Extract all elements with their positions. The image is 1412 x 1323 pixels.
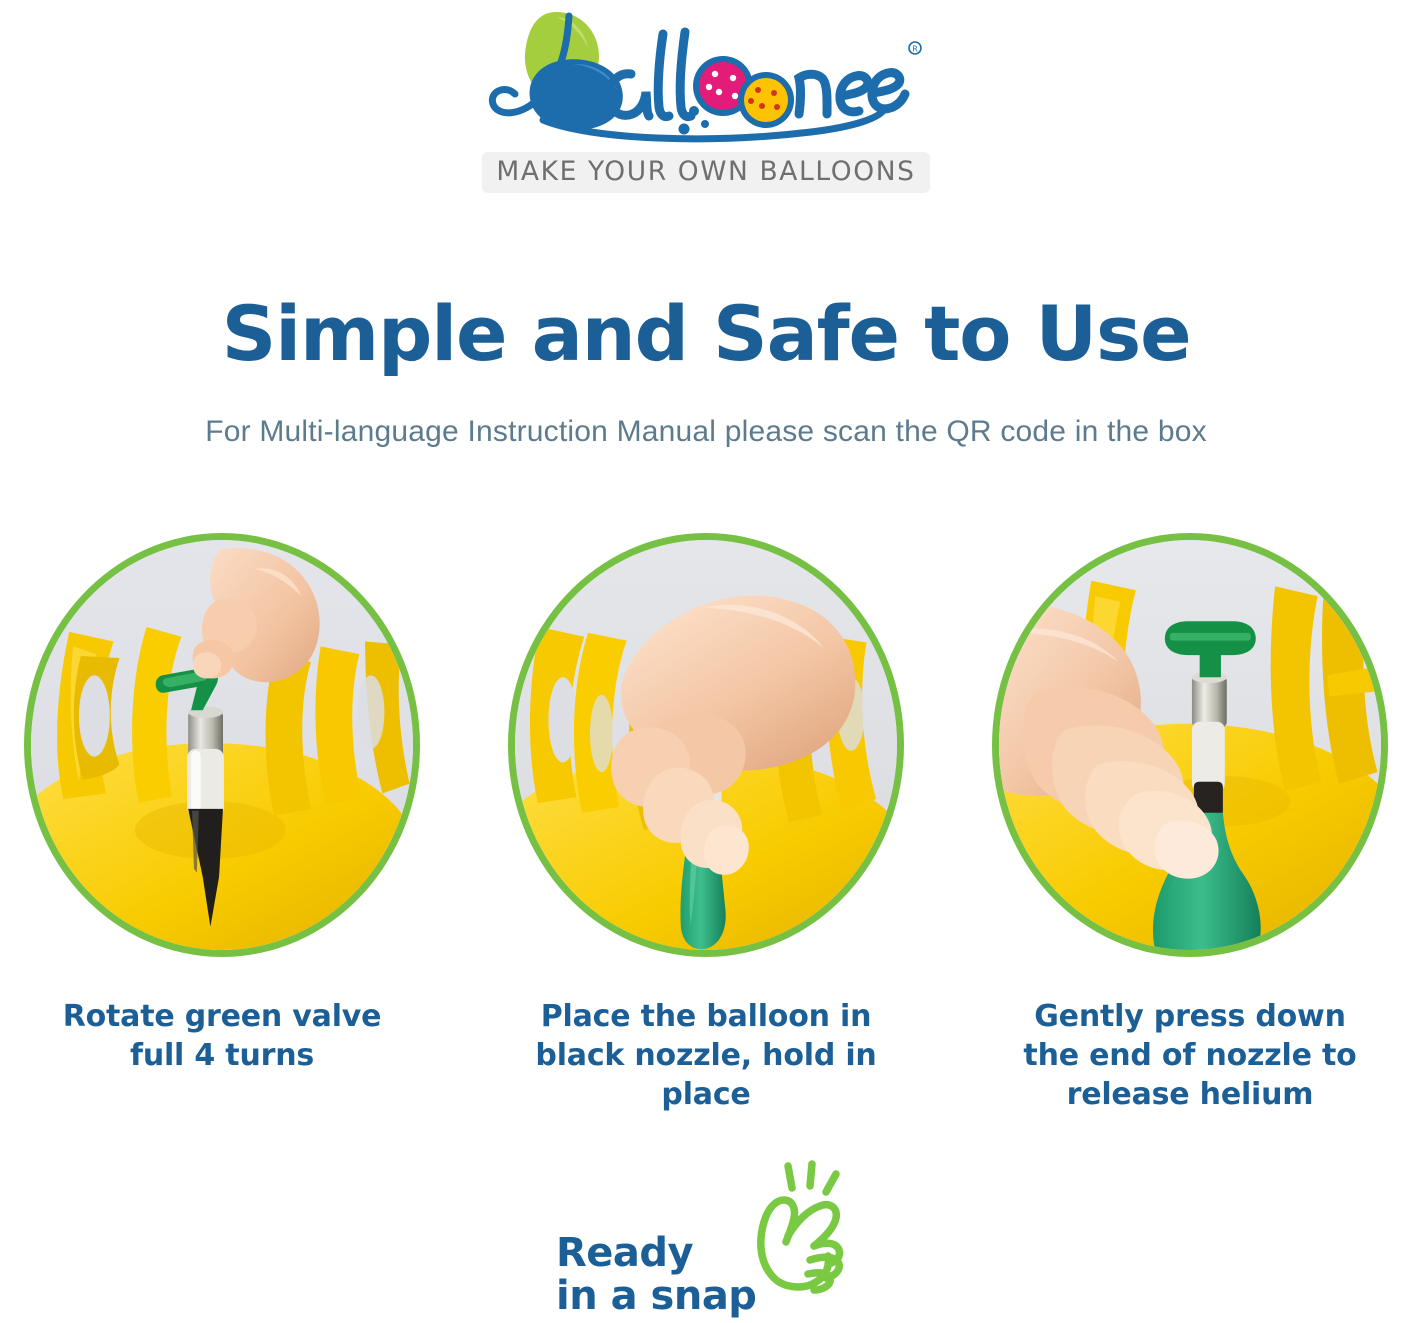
- step-3-caption: Gently press down the end of nozzle to r…: [1005, 997, 1375, 1114]
- ready-in-a-snap-text: Ready in a snap: [556, 1232, 756, 1318]
- page-title: Simple and Safe to Use: [0, 292, 1412, 376]
- svg-text:R: R: [912, 45, 918, 54]
- ready-line-2: in a snap: [556, 1273, 756, 1319]
- hand-placing-balloon-on-black-nozzle-photo: [515, 540, 897, 950]
- ready-in-a-snap-badge: Ready in a snap: [0, 1168, 1412, 1318]
- balloon-logo-icon: R: [481, 8, 931, 158]
- brand-tagline: MAKE YOUR OWN BALLOONS: [496, 156, 915, 187]
- brand-logo: R MAKE YOUR OWN BALLOONS: [0, 8, 1412, 218]
- step-2: Place the balloon in black nozzle, hold …: [506, 533, 906, 1114]
- step-1-caption: Rotate green valve full 4 turns: [37, 997, 407, 1075]
- step-3-photo-ring: [992, 533, 1388, 957]
- hand-rotating-green-valve-photo: [31, 540, 413, 950]
- snapping-fingers-icon: [730, 1160, 860, 1295]
- step-1: Rotate green valve full 4 turns: [22, 533, 422, 1114]
- steps-row: Rotate green valve full 4 turns: [22, 533, 1390, 1114]
- step-2-photo-ring: [508, 533, 904, 957]
- page-subtitle: For Multi-language Instruction Manual pl…: [0, 413, 1412, 451]
- step-1-photo-ring: [24, 533, 420, 957]
- step-3: Gently press down the end of nozzle to r…: [990, 533, 1390, 1114]
- hand-pressing-nozzle-to-release-helium-photo: [999, 540, 1381, 950]
- brand-tagline-plate: MAKE YOUR OWN BALLOONS: [482, 152, 929, 193]
- ready-line-1: Ready: [556, 1230, 693, 1276]
- step-2-caption: Place the balloon in black nozzle, hold …: [521, 997, 891, 1114]
